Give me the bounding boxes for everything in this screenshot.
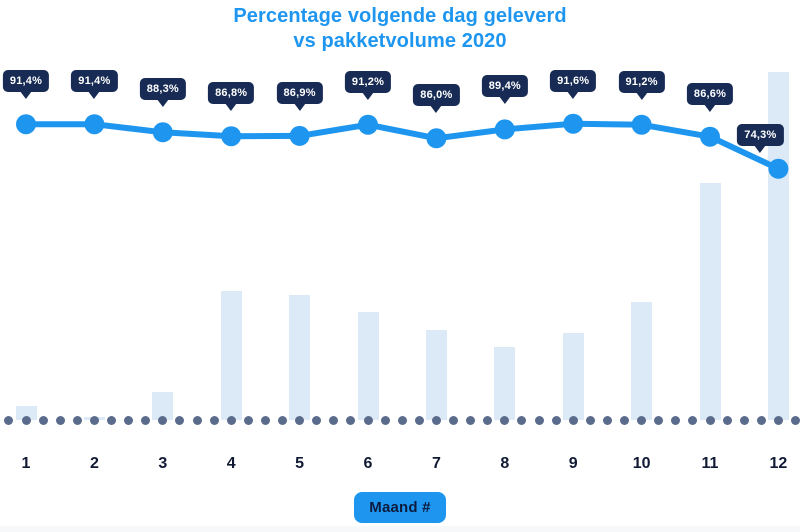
plot-area: 91,4%91,4%88,3%86,8%86,9%91,2%86,0%89,4%… [0,0,800,440]
x-tick-label-4: 4 [227,455,236,473]
data-label-month-2: 91,4% [71,70,117,92]
data-label-month-3: 88,3% [140,78,186,100]
x-axis-title-pill: Maand # [354,492,445,523]
x-tick-label-12: 12 [769,455,787,473]
x-tick-label-3: 3 [158,455,167,473]
x-tick-label-11: 11 [702,455,719,473]
data-label-month-1: 91,4% [3,70,49,92]
x-tick-label-5: 5 [295,455,304,473]
data-label-month-11: 86,6% [687,83,733,105]
data-label-month-10: 91,2% [618,71,664,93]
x-tick-label-6: 6 [364,455,373,473]
data-label-layer: 91,4%91,4%88,3%86,8%86,9%91,2%86,0%89,4%… [0,0,800,440]
x-axis-title-wrap: Maand # [0,492,800,523]
data-label-month-7: 86,0% [413,84,459,106]
bottom-strip [0,526,800,532]
data-label-month-8: 89,4% [482,75,528,97]
data-label-month-4: 86,8% [208,82,254,104]
x-tick-label-9: 9 [569,455,578,473]
data-label-month-6: 91,2% [345,71,391,93]
data-label-month-5: 86,9% [276,82,322,104]
x-tick-label-2: 2 [90,455,99,473]
data-label-month-9: 91,6% [550,70,596,92]
x-tick-label-1: 1 [22,455,31,473]
data-label-month-12: 74,3% [737,124,783,146]
x-tick-label-8: 8 [500,455,509,473]
x-tick-label-10: 10 [633,455,651,473]
x-tick-label-7: 7 [432,455,441,473]
x-axis: 123456789101112 [0,440,800,490]
chart-container: Percentage volgende dag geleverd vs pakk… [0,0,800,532]
